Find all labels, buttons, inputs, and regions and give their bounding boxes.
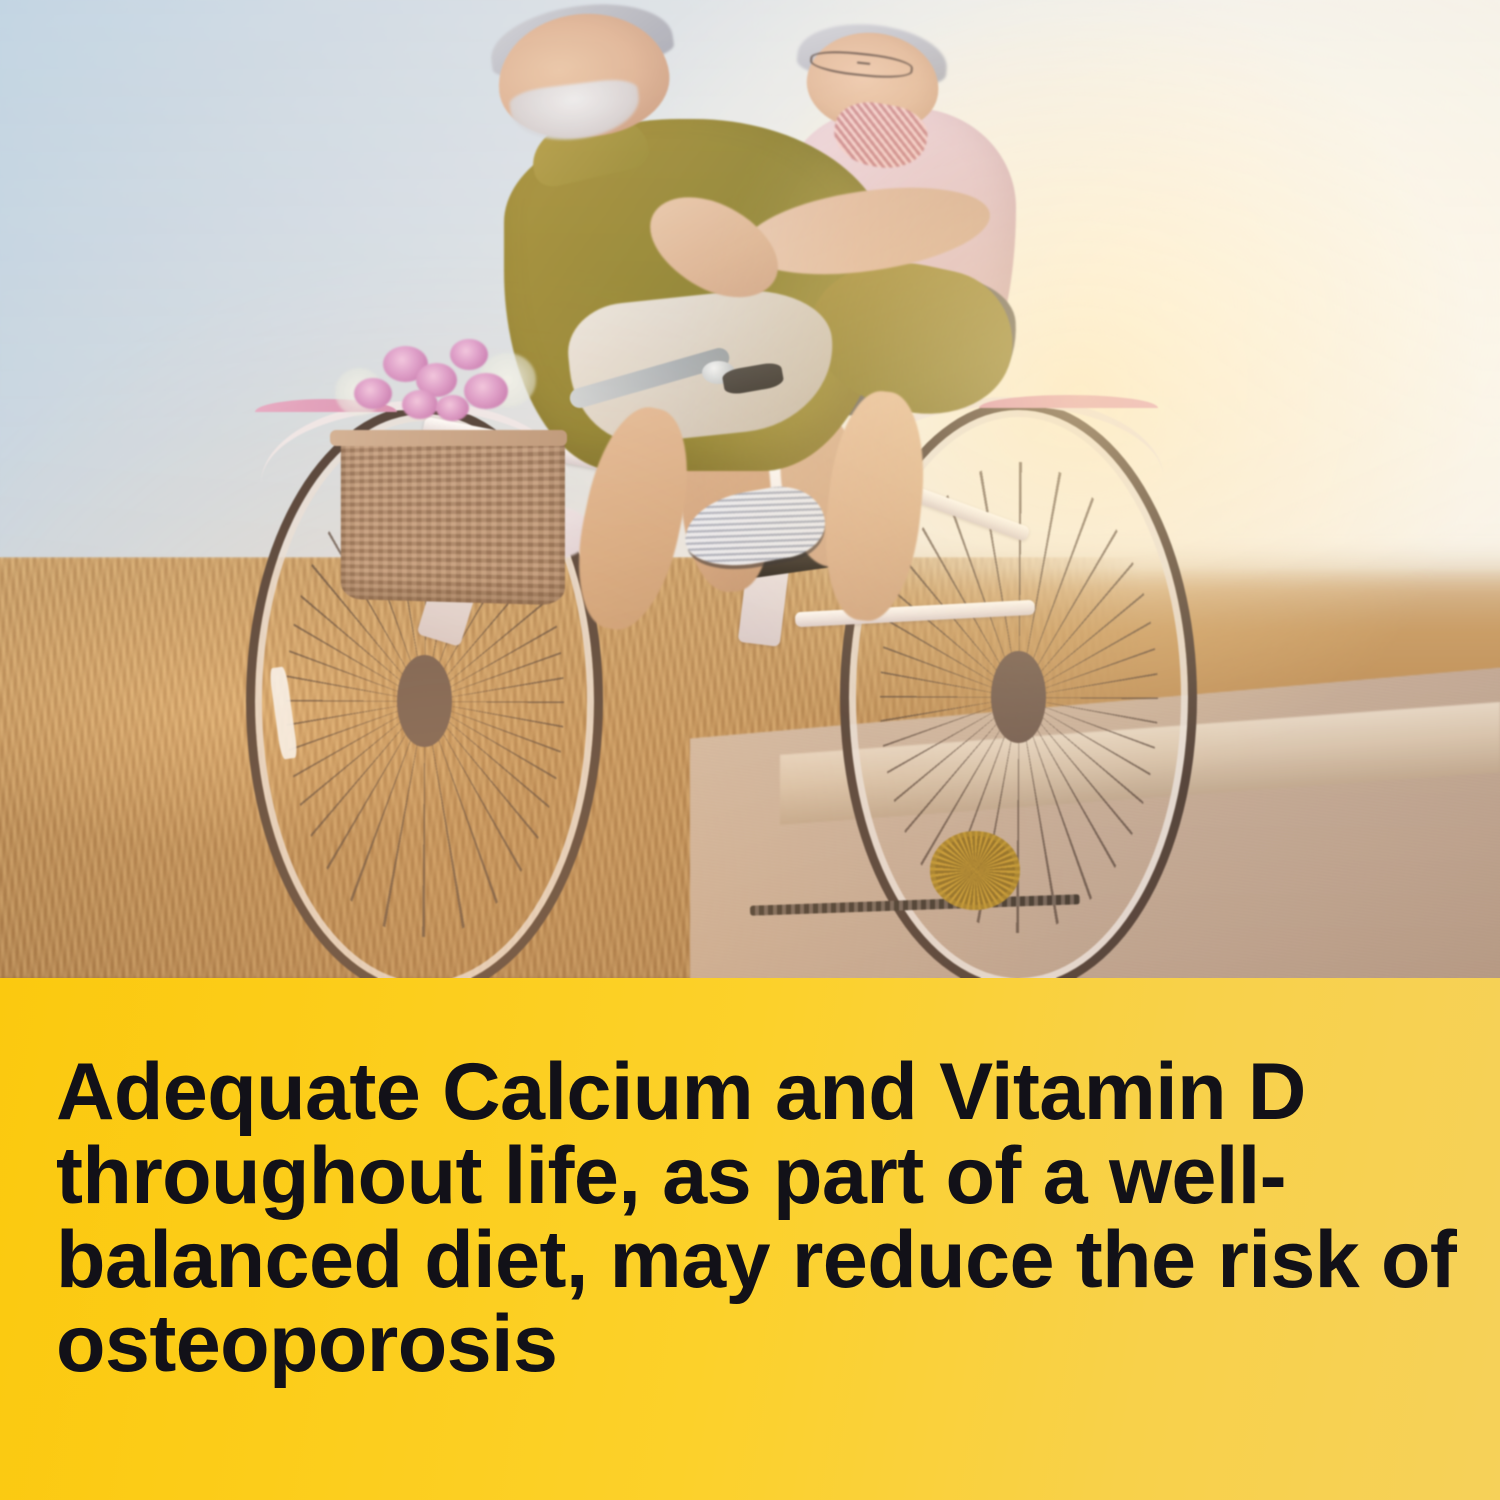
health-claim-text: Adequate Calcium and Vitamin D throughou… [56, 1050, 1466, 1386]
flower-bloom [436, 395, 470, 422]
flower-bouquet [330, 327, 570, 448]
banner-canvas: Adequate Calcium and Vitamin D throughou… [0, 0, 1500, 1500]
wicker-basket [341, 433, 565, 606]
health-claim-panel: Adequate Calcium and Vitamin D throughou… [0, 978, 1500, 1500]
flower-bloom [402, 390, 438, 419]
bicycle-chainring [930, 831, 1020, 909]
hero-photo [0, 0, 1500, 978]
front-wheel-hub [397, 655, 451, 747]
flower-bloom [464, 373, 507, 409]
rear-wheel-hub [991, 651, 1045, 743]
flower-bloom [354, 378, 392, 410]
couple-on-bicycle [0, 0, 1500, 978]
